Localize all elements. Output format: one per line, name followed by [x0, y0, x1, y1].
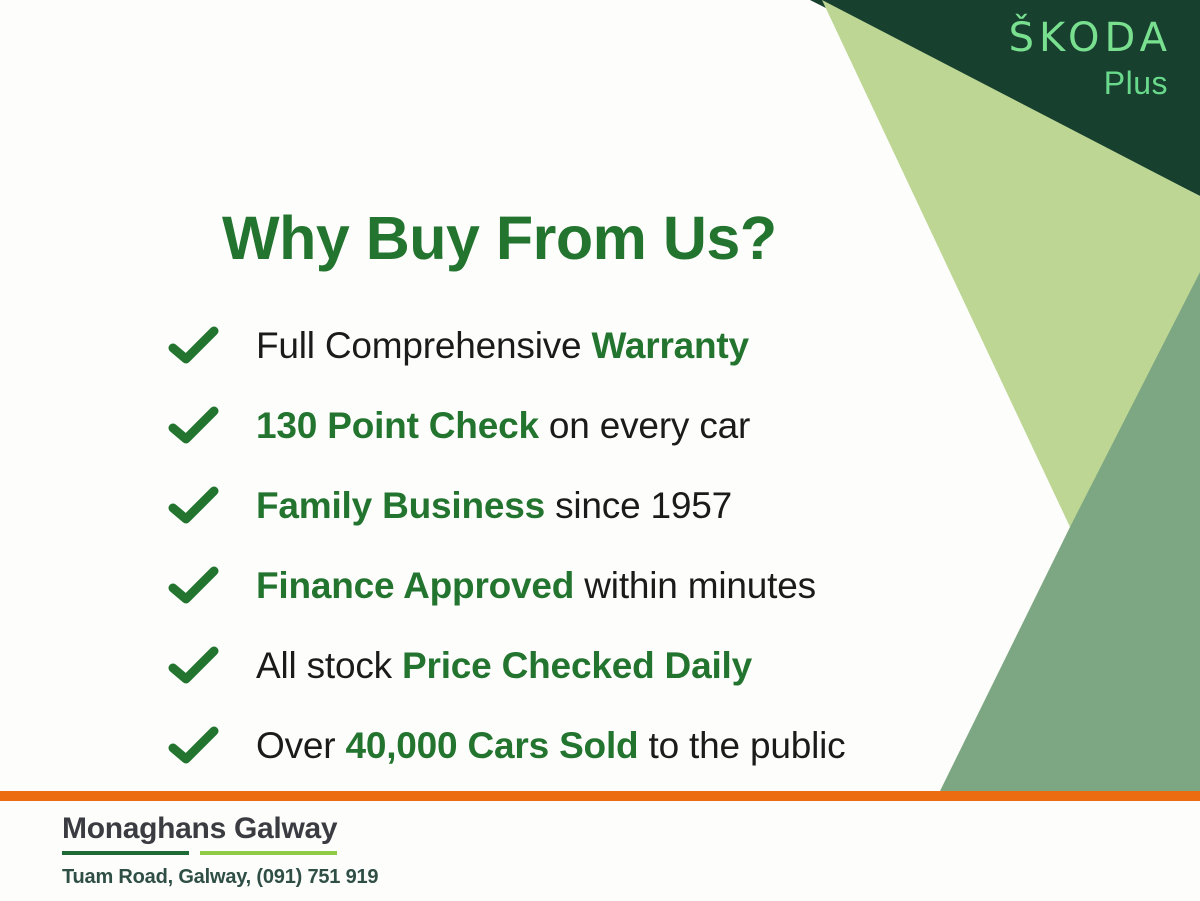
check-icon — [168, 726, 220, 766]
dealer-name-text: Monaghans Galway — [62, 812, 337, 845]
skoda-wordmark: ŠKODA — [1009, 18, 1172, 58]
benefits-list: Full Comprehensive Warranty130 Point Che… — [168, 306, 845, 786]
benefit-item: Family Business since 1957 — [168, 466, 845, 546]
check-icon — [168, 486, 220, 526]
dealer-rule-light — [200, 851, 338, 855]
benefit-plain: within minutes — [574, 565, 816, 606]
benefit-highlight: Family Business — [256, 485, 545, 526]
skoda-brand-lockup: ŠKODA Plus — [1009, 18, 1172, 99]
check-icon — [168, 566, 220, 606]
benefit-plain: Full Comprehensive — [256, 325, 592, 366]
check-icon — [168, 406, 220, 446]
benefit-plain: on every car — [539, 405, 750, 446]
benefit-highlight: Finance Approved — [256, 565, 574, 606]
check-icon — [168, 326, 220, 366]
medium-sage-shape — [940, 272, 1200, 791]
benefit-item: 130 Point Check on every car — [168, 386, 845, 466]
benefit-plain: All stock — [256, 645, 402, 686]
benefit-label: Full Comprehensive Warranty — [256, 325, 749, 367]
check-icon — [168, 646, 220, 686]
poster-canvas: ŠKODA Plus Why Buy From Us? Full Compreh… — [0, 0, 1200, 901]
benefit-highlight: 40,000 Cars Sold — [345, 725, 638, 766]
benefit-label: 130 Point Check on every car — [256, 405, 750, 447]
benefit-item: All stock Price Checked Daily — [168, 626, 845, 706]
benefit-highlight: 130 Point Check — [256, 405, 539, 446]
benefit-plain: Over — [256, 725, 345, 766]
benefit-highlight: Price Checked Daily — [402, 645, 752, 686]
benefit-item: Finance Approved within minutes — [168, 546, 845, 626]
benefit-highlight: Warranty — [592, 325, 749, 366]
benefit-plain: since 1957 — [545, 485, 732, 526]
dealer-logo: Monaghans Galway — [62, 812, 337, 855]
orange-divider — [0, 791, 1200, 801]
benefit-plain: to the public — [638, 725, 845, 766]
dealer-address: Tuam Road, Galway, (091) 751 919 — [62, 866, 378, 889]
benefit-item: Over 40,000 Cars Sold to the public — [168, 706, 845, 786]
skoda-plus-label: Plus — [1009, 67, 1168, 99]
benefit-label: All stock Price Checked Daily — [256, 645, 752, 687]
page-title: Why Buy From Us? — [222, 203, 777, 273]
dealer-rule-dark — [62, 851, 189, 855]
dealer-footer: Monaghans Galway Tuam Road, Galway, (091… — [62, 812, 378, 889]
benefit-label: Over 40,000 Cars Sold to the public — [256, 725, 845, 767]
benefit-label: Family Business since 1957 — [256, 485, 732, 527]
benefit-label: Finance Approved within minutes — [256, 565, 816, 607]
benefit-item: Full Comprehensive Warranty — [168, 306, 845, 386]
